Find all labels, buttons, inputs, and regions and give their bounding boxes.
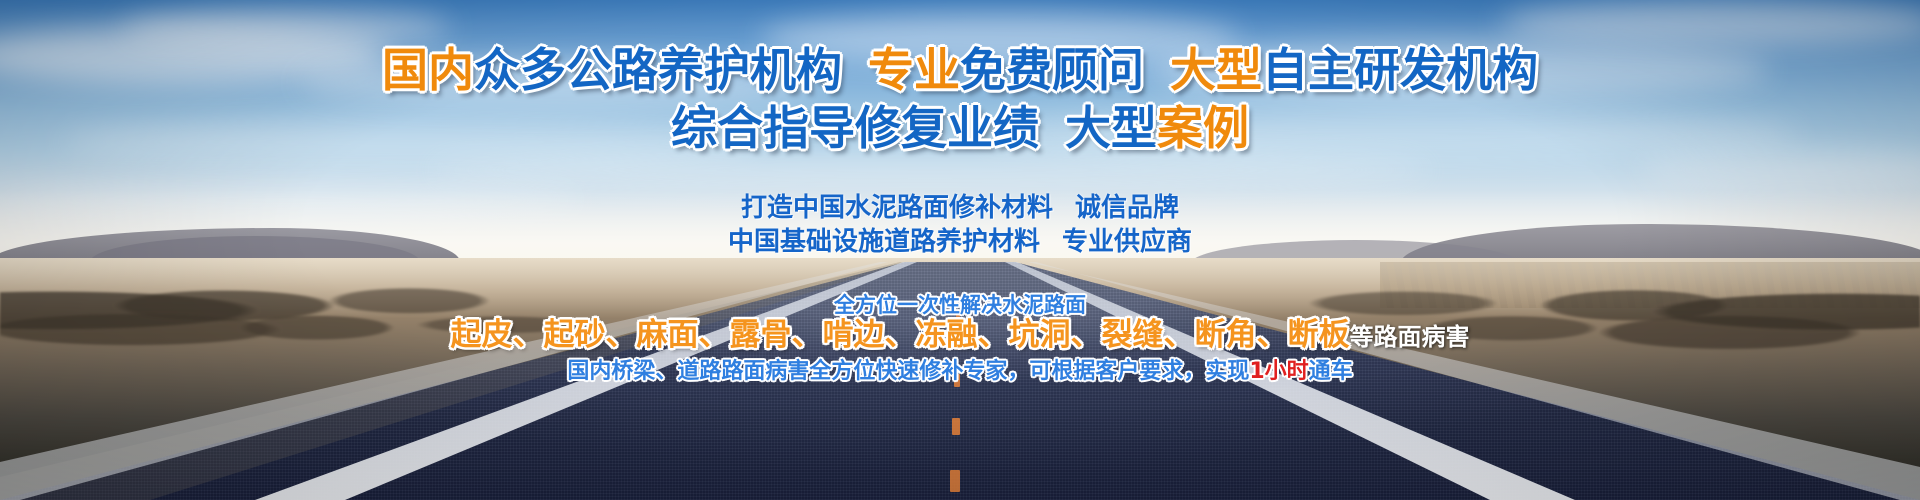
banner-text-layer: 国内众多公路养护机构专业免费顾问大型自主研发机构 综合指导修复业绩大型案例 打造… (0, 0, 1920, 500)
footer-damage-list: 起皮、起砂、麻面、露骨、啃边、冻融、坑洞、裂缝、断角、断板 (451, 317, 1350, 353)
headline-1-seg-1: 国内 (382, 43, 474, 97)
footer-promise-a: 国内桥梁、道路路面病害全方位快速修补专家，可根据客户要求，实现 (567, 359, 1249, 384)
footer-promise-highlight: 1小时 (1249, 359, 1308, 384)
headline-line-2: 综合指导修复业绩大型案例 (0, 102, 1920, 154)
footer-promise-b: 通车 (1309, 359, 1353, 384)
promo-banner: 国内众多公路养护机构专业免费顾问大型自主研发机构 综合指导修复业绩大型案例 打造… (0, 0, 1920, 500)
subhead-1-b: 诚信品牌 (1075, 193, 1179, 223)
footer-damage-suffix: 等路面病害 (1350, 323, 1470, 351)
subhead-line-1: 打造中国水泥路面修补材料诚信品牌 (0, 192, 1920, 224)
subhead-1-a: 打造中国水泥路面修补材料 (741, 193, 1053, 223)
footer-tagline: 全方位一次性解决水泥路面 (0, 292, 1920, 318)
footer-damage-line: 起皮、起砂、麻面、露骨、啃边、冻融、坑洞、裂缝、断角、断板等路面病害 (0, 316, 1920, 356)
footer-promise-line: 国内桥梁、道路路面病害全方位快速修补专家，可根据客户要求，实现1小时通车 (0, 358, 1920, 386)
headline-1-seg-5: 大型 (1170, 43, 1262, 97)
headline-1-seg-2: 众多公路养护机构 (474, 43, 842, 97)
headline-2-seg-1: 综合指导修复业绩 (671, 101, 1039, 155)
headline-2-seg-3: 案例 (1157, 101, 1249, 155)
subhead-2-b: 专业供应商 (1062, 227, 1192, 257)
subhead-line-2: 中国基础设施道路养护材料专业供应商 (0, 226, 1920, 258)
headline-1-seg-6: 自主研发机构 (1262, 43, 1538, 97)
headline-1-seg-3: 专业 (868, 43, 960, 97)
headline-1-seg-4: 免费顾问 (960, 43, 1144, 97)
headline-line-1: 国内众多公路养护机构专业免费顾问大型自主研发机构 (0, 44, 1920, 96)
subhead-2-a: 中国基础设施道路养护材料 (728, 227, 1040, 257)
headline-2-seg-2: 大型 (1065, 101, 1157, 155)
